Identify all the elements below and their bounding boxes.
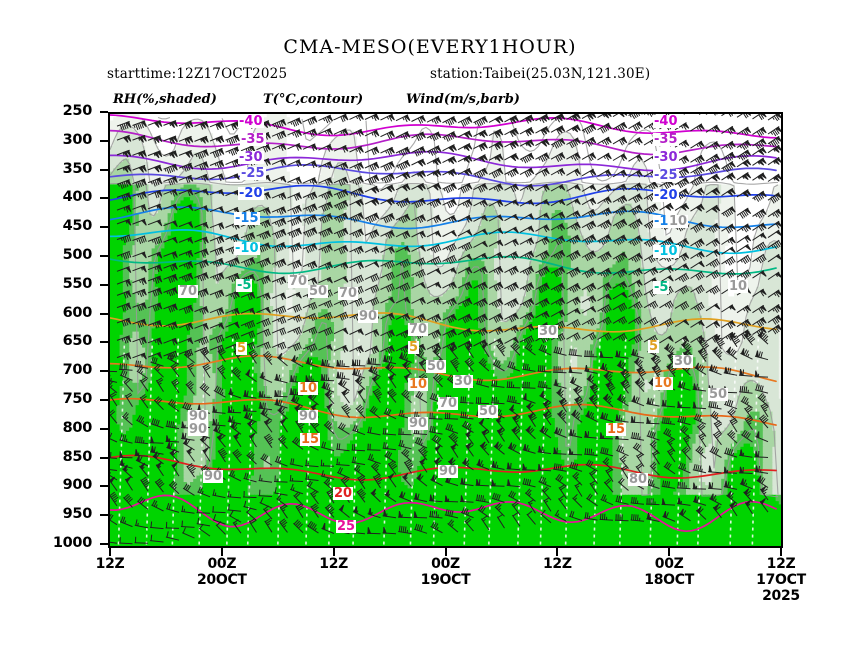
temperature-contour-label: 10 [408, 378, 428, 391]
temperature-contour-label: -15 [234, 212, 260, 225]
rh-contour-label: 50 [478, 405, 498, 418]
x-axis-tick-label: 00Z20OCT [180, 556, 264, 588]
temperature-contour-label: -30 [653, 151, 679, 164]
y-axis-tick-label: 800 [46, 420, 92, 436]
y-axis-tick [100, 169, 108, 171]
x-axis-tick-label: 12Z17OCT2025 [739, 556, 823, 604]
rh-contour-label: 70 [178, 285, 198, 298]
rh-contour-label: 30 [538, 325, 558, 338]
station-label: station:Taibei(25.03N,121.30E) [430, 66, 650, 82]
temperature-contour-label: 5 [236, 342, 247, 355]
temperature-contour-label: 5 [648, 340, 659, 353]
y-axis-tick [100, 399, 108, 401]
y-axis-tick [100, 313, 108, 315]
x-axis-tick [333, 548, 335, 556]
y-axis-tick-label: 1000 [46, 535, 92, 551]
x-axis-tick [780, 548, 782, 556]
rh-contour-label: 90 [438, 465, 458, 478]
temperature-contour-label: 15 [606, 423, 626, 436]
temperature-contour-label: -25 [653, 169, 679, 182]
temperature-contour-label: -20 [238, 187, 264, 200]
temperature-contour-label: -40 [653, 115, 679, 128]
temperature-contour-label: 10 [298, 382, 318, 395]
temperature-contour-label: -10 [653, 245, 679, 258]
x-axis-tick-label: 12Z [68, 556, 152, 572]
temperature-contour-label: 25 [336, 520, 356, 533]
temperature-contour-label: 5 [408, 341, 419, 354]
y-axis-tick [100, 140, 108, 142]
temperature-contour-label: -10 [234, 242, 260, 255]
y-axis-tick-label: 550 [46, 276, 92, 292]
y-axis-tick-label: 750 [46, 391, 92, 407]
y-axis-tick-label: 950 [46, 506, 92, 522]
chart-root: CMA-MESO(EVERY1HOUR) starttime:12Z17OCT2… [0, 0, 860, 664]
rh-contour-label: 90 [358, 310, 378, 323]
y-axis-tick-label: 700 [46, 362, 92, 378]
y-axis-tick [100, 255, 108, 257]
y-axis-tick-label: 650 [46, 333, 92, 349]
y-axis-tick-label: 450 [46, 218, 92, 234]
starttime-label: starttime:12Z17OCT2025 [107, 66, 287, 82]
x-axis-tick [556, 548, 558, 556]
rh-contour-label: 30 [673, 355, 693, 368]
y-axis-tick [100, 457, 108, 459]
x-axis-tick [445, 548, 447, 556]
rh-contour-label: 10 [728, 280, 748, 293]
rh-contour-label: 30 [453, 375, 473, 388]
rh-contour-label: 90 [203, 470, 223, 483]
y-axis-tick [100, 111, 108, 113]
y-axis-tick [100, 197, 108, 199]
x-axis-tick [109, 548, 111, 556]
y-axis-tick [100, 341, 108, 343]
y-axis-tick [100, 485, 108, 487]
rh-contour-label: 70 [408, 323, 428, 336]
rh-contour-label: 70 [438, 397, 458, 410]
rh-contour-label: 80 [628, 473, 648, 486]
y-axis-tick-label: 300 [46, 132, 92, 148]
y-axis-tick-label: 900 [46, 477, 92, 493]
y-axis-tick-label: 350 [46, 161, 92, 177]
rh-contour-label: 10 [668, 215, 688, 228]
temperature-contour-label: 15 [300, 433, 320, 446]
y-axis-tick-label: 600 [46, 305, 92, 321]
y-axis-tick-label: 250 [46, 103, 92, 119]
legend-rh: RH(%,shaded) [113, 92, 217, 107]
rh-contour-label: 70 [338, 287, 358, 300]
page-title: CMA-MESO(EVERY1HOUR) [0, 36, 860, 58]
rh-contour-label: 50 [308, 285, 328, 298]
rh-contour-label: 50 [426, 360, 446, 373]
temperature-contour-label: -20 [653, 189, 679, 202]
y-axis-tick [100, 428, 108, 430]
y-axis-tick-label: 500 [46, 247, 92, 263]
temperature-contour-label: -35 [653, 133, 679, 146]
y-axis-tick [100, 370, 108, 372]
temperature-contour-label: 10 [653, 377, 673, 390]
x-axis-tick [668, 548, 670, 556]
x-axis-tick-label: 12Z [292, 556, 376, 572]
legend-wind: Wind(m/s,barb) [406, 92, 520, 107]
temperature-contour-label: -5 [236, 279, 252, 292]
x-axis-tick-label: 12Z [515, 556, 599, 572]
temperature-contour-label: -25 [240, 167, 266, 180]
y-axis-tick [100, 226, 108, 228]
y-axis-tick [100, 284, 108, 286]
rh-contour-label: 90 [408, 417, 428, 430]
x-axis-tick-label: 00Z19OCT [404, 556, 488, 588]
temperature-contour-label: -5 [653, 281, 669, 294]
temperature-contour-label: -40 [238, 115, 264, 128]
temperature-contour-label: -30 [238, 151, 264, 164]
temperature-contour-label: -35 [240, 133, 266, 146]
x-axis-tick-label: 00Z18OCT [627, 556, 711, 588]
y-axis-tick [100, 543, 108, 545]
rh-contour-label: 70 [288, 275, 308, 288]
rh-contour-label: 90 [298, 410, 318, 423]
y-axis-tick-label: 400 [46, 189, 92, 205]
temperature-contour-label: 20 [333, 487, 353, 500]
y-axis-tick [100, 514, 108, 516]
y-axis-tick-label: 850 [46, 449, 92, 465]
x-axis-tick [221, 548, 223, 556]
rh-contour-label: 90 [188, 423, 208, 436]
rh-contour-label: 50 [708, 388, 728, 401]
legend-temperature: T(°C,contour) [263, 92, 363, 107]
